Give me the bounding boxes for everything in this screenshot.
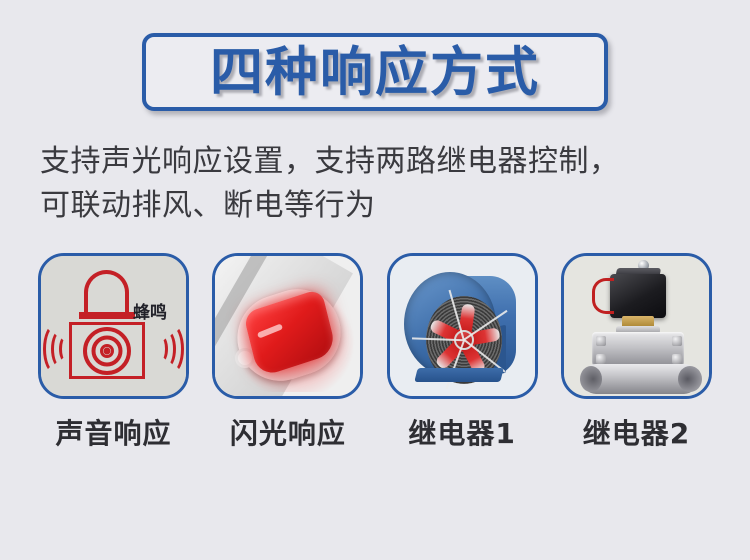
siren-base-shape — [79, 312, 135, 319]
card-flash-response[interactable] — [212, 253, 363, 399]
siren-dome-shape — [84, 270, 129, 314]
subtitle-block: 支持声光响应设置，支持两路继电器控制， 可联动排风、断电等行为 — [40, 140, 720, 227]
caption-row: 声音响应 闪光响应 继电器1 继电器2 — [38, 412, 712, 452]
solenoid-valve-image — [564, 256, 709, 396]
fan-base-foot — [414, 368, 503, 382]
subtitle-line-2: 可联动排风、断电等行为 — [40, 184, 720, 228]
buzzer-siren-icon: 蜂鸣 — [41, 256, 186, 396]
sound-ring-center — [104, 347, 111, 354]
caption-sound-response: 声音响应 — [38, 412, 189, 452]
page-title: 四种响应方式 — [142, 33, 608, 111]
card-relay-1[interactable] — [387, 253, 538, 399]
caption-flash-response: 闪光响应 — [212, 412, 363, 452]
valve-red-wire — [592, 278, 614, 314]
caption-relay-2: 继电器2 — [561, 412, 712, 452]
valve-port-right — [678, 366, 702, 392]
card-sound-response[interactable]: 蜂鸣 — [38, 253, 189, 399]
sound-wave-left-3 — [43, 324, 67, 374]
caption-relay-1: 继电器1 — [387, 412, 538, 452]
promo-page: 四种响应方式 支持声光响应设置，支持两路继电器控制， 可联动排风、断电等行为 — [0, 0, 750, 560]
buzzer-inline-label: 蜂鸣 — [133, 298, 167, 323]
feature-card-row: 蜂鸣 — [38, 253, 712, 399]
sound-wave-right-3 — [160, 324, 184, 374]
card-relay-2[interactable] — [561, 253, 712, 399]
valve-bolt-3 — [596, 354, 606, 364]
subtitle-line-1: 支持声光响应设置，支持两路继电器控制， — [40, 140, 720, 184]
valve-bolt-1 — [596, 336, 606, 346]
siren-body-shape — [69, 322, 145, 379]
valve-solenoid-coil — [610, 274, 666, 318]
fan-front-ring — [404, 272, 496, 376]
axial-fan-image — [390, 256, 535, 396]
title-banner: 四种响应方式 — [142, 33, 608, 111]
strobe-beacon-image — [215, 256, 360, 396]
valve-port-left — [580, 366, 602, 392]
valve-bolt-4 — [672, 354, 682, 364]
valve-bolt-2 — [672, 336, 682, 346]
